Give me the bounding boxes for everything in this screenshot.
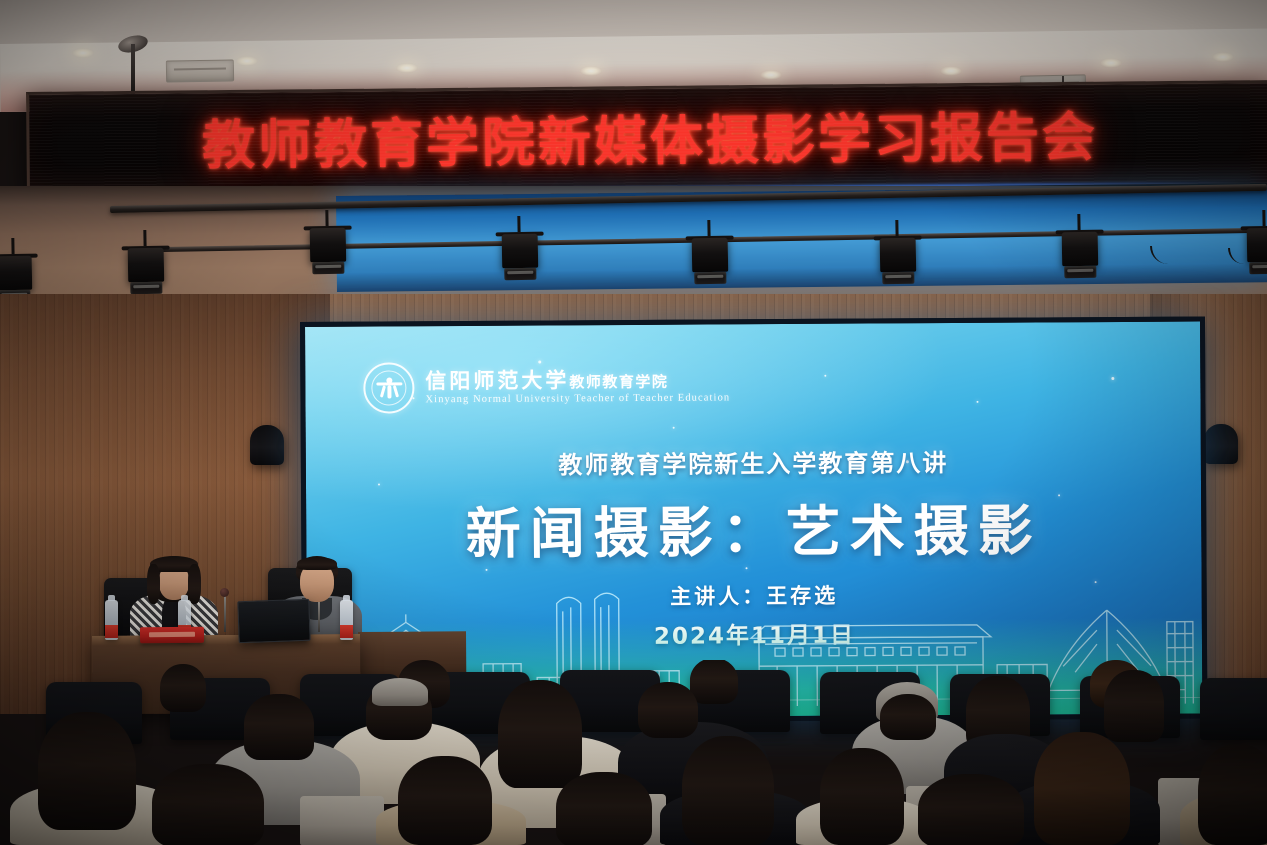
- podium-tabletop: [92, 634, 360, 645]
- slide-logo-en: Xinyang Normal University Teacher of Tea…: [425, 392, 730, 405]
- audience-head: [244, 694, 314, 760]
- audience-area: [0, 660, 1267, 845]
- audience-head: [690, 660, 738, 704]
- downlight-icon: [760, 70, 782, 80]
- beanie-hat: [372, 678, 428, 706]
- laptop: [237, 599, 310, 643]
- water-bottle: [105, 600, 118, 640]
- stage-light-icon: [690, 232, 731, 287]
- slide-subtitle: 教师教育学院新生入学教育第八讲: [306, 441, 1201, 481]
- hvac-vent: [166, 59, 234, 82]
- led-banner: 教师教育学院新媒体摄影学习报告会: [26, 80, 1267, 195]
- downlight-icon: [940, 66, 962, 76]
- downlight-icon: [236, 56, 258, 66]
- seat-front-row: [300, 796, 384, 845]
- audience-head: [160, 664, 206, 712]
- audience-head: [152, 764, 264, 845]
- audience-head: [820, 748, 904, 845]
- audience-head: [498, 680, 582, 788]
- audience-head: [682, 736, 774, 845]
- stage-light-icon: [126, 242, 167, 297]
- downlight-icon: [396, 63, 418, 73]
- audience-head: [1034, 732, 1130, 845]
- downlight-icon: [1212, 52, 1234, 62]
- audience-head: [1198, 744, 1267, 845]
- host-hair-side: [188, 564, 201, 604]
- audience-head: [918, 774, 1024, 845]
- audience-head: [638, 682, 698, 738]
- downlight-icon: [1100, 58, 1122, 68]
- slide-logo-cn: 信阳师范大学教师教育学院: [425, 368, 730, 392]
- audience-head: [556, 772, 652, 845]
- audience-head: [38, 712, 136, 830]
- audience-head: [880, 694, 936, 740]
- stage-light-icon: [308, 222, 349, 277]
- audience-head: [1104, 670, 1164, 742]
- stage-light-icon: [1060, 226, 1101, 281]
- university-emblem-icon: [363, 362, 414, 413]
- downlight-icon: [72, 48, 94, 58]
- microphone-icon: [220, 588, 229, 597]
- slide-logo: 信阳师范大学教师教育学院 Xinyang Normal University T…: [363, 360, 730, 413]
- water-bottle: [340, 600, 353, 640]
- slide-title: 新闻摄影：艺术摄影: [306, 484, 1201, 569]
- seat-back: [1200, 678, 1267, 740]
- microphone-stand: [318, 602, 320, 632]
- stage-light-icon: [878, 232, 919, 287]
- ceiling-cable: [131, 44, 135, 96]
- nameplate: [140, 627, 204, 644]
- downlight-icon: [580, 66, 602, 76]
- host-hair-side: [147, 564, 160, 604]
- led-banner-text: 教师教育学院新媒体摄影学习报告会: [29, 94, 1267, 182]
- stage-light-icon: [500, 228, 541, 283]
- wall-speaker-icon: [1204, 424, 1238, 464]
- speaker-hair-front: [297, 557, 337, 570]
- audience-head: [398, 756, 492, 845]
- microphone-stand: [224, 596, 226, 632]
- wall-speaker-icon: [250, 425, 284, 465]
- lecture-hall-photo: 教师教育学院新媒体摄影学习报告会: [0, 0, 1267, 845]
